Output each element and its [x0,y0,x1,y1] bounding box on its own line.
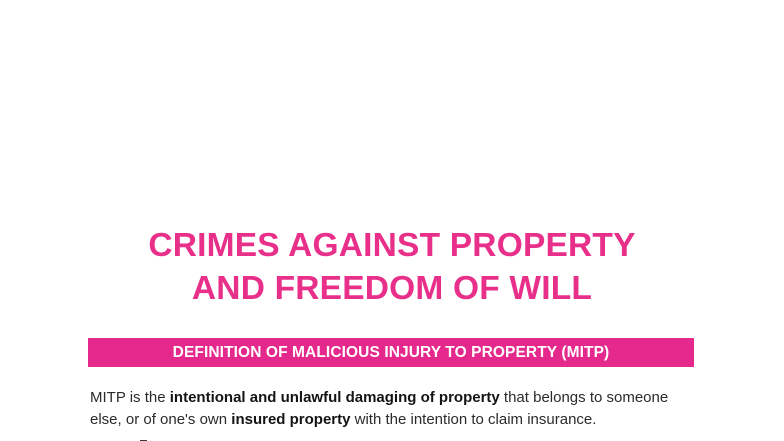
body-content: MITP is the intentional and unlawful dam… [90,372,670,441]
slide-title-line-2: AND FREEDOM OF WILL [0,267,784,310]
definition-paragraph: MITP is the intentional and unlawful dam… [90,387,670,430]
slide-title: CRIMES AGAINST PROPERTY AND FREEDOM OF W… [0,224,784,310]
definition-text-part-1: MITP is the [90,389,170,406]
definition-text-part-3: with the intention to claim insurance. [350,411,596,428]
section-banner: DEFINITION OF MALICIOUS INJURY TO PROPER… [88,338,694,367]
definition-emphasis-2: insured property [231,411,350,428]
slide-title-line-1: CRIMES AGAINST PROPERTY [0,224,784,267]
section-banner-heading: DEFINITION OF MALICIOUS INJURY TO PROPER… [173,344,610,362]
definition-emphasis-1: intentional and unlawful damaging of pro… [170,389,500,406]
clipped-bullet-item [140,436,680,441]
slide-canvas: CRIMES AGAINST PROPERTY AND FREEDOM OF W… [0,0,784,441]
